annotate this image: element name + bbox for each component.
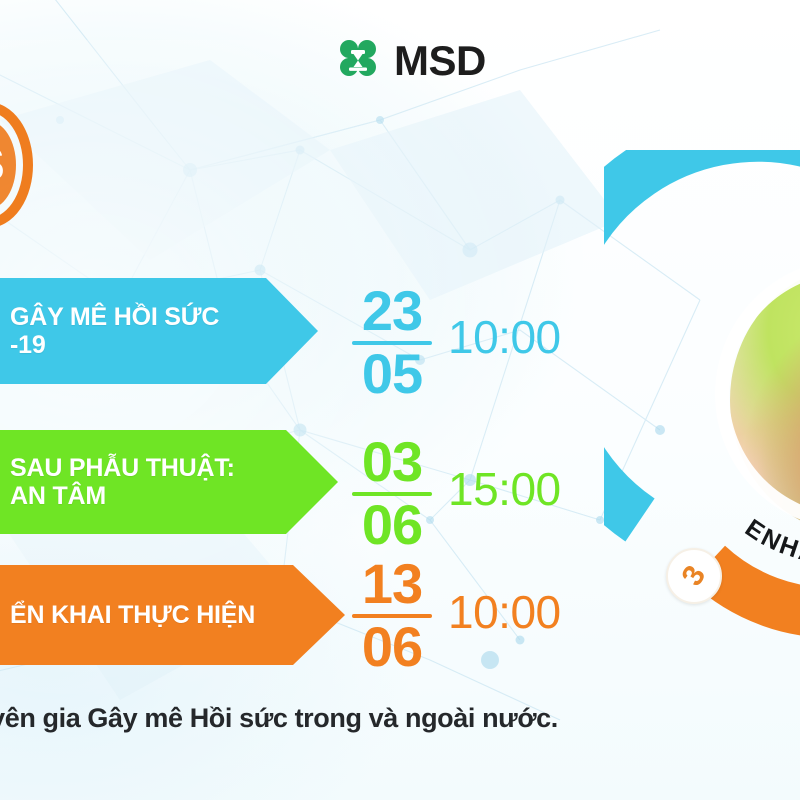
session-title-line1: ỂN KHAI THỰC HIỆN — [10, 601, 255, 629]
badge-number: 3 — [666, 548, 722, 604]
svg-text:ENHANCE R: ENHANCE R — [740, 514, 800, 570]
session-title-line2: -19 — [10, 331, 219, 359]
session-day-2: 03 — [352, 435, 432, 489]
session-date-1: 23 05 — [352, 284, 432, 401]
session-banner-1[interactable]: GÂY MÊ HỒI SỨC -19 — [0, 278, 318, 384]
session-banner-2[interactable]: SAU PHẪU THUẬT: AN TÂM — [0, 430, 338, 534]
session-title-line1: SAU PHẪU THUẬT: — [10, 454, 235, 482]
session-day-3: 13 — [352, 557, 432, 611]
poster-canvas: MSD S am GÂY MÊ HỒI SỨC -19 23 05 10: — [0, 0, 800, 800]
footer-caption: uyên gia Gây mê Hồi sức trong và ngoài n… — [0, 703, 558, 734]
event-circle-badge: n 23.05.2020 — [604, 150, 800, 650]
session-month-1: 05 — [352, 347, 432, 401]
badge-number-value: 3 — [675, 560, 713, 592]
session-time-2: 15:00 — [448, 462, 561, 516]
session-time-1: 10:00 — [448, 310, 561, 364]
session-month-3: 06 — [352, 620, 432, 674]
session-banner-3[interactable]: ỂN KHAI THỰC HIỆN — [0, 565, 345, 665]
tagline-text: ENHANCE R — [740, 514, 800, 570]
date-arc: 23.05.2020 — [604, 150, 800, 520]
session-time-3: 10:00 — [448, 585, 561, 639]
session-date-3: 13 06 — [352, 557, 432, 674]
session-title-line2: AN TÂM — [10, 482, 235, 510]
session-title-line1: GÂY MÊ HỒI SỨC — [10, 303, 219, 331]
session-month-2: 06 — [352, 498, 432, 552]
session-day-1: 23 — [352, 284, 432, 338]
session-date-2: 03 06 — [352, 435, 432, 552]
